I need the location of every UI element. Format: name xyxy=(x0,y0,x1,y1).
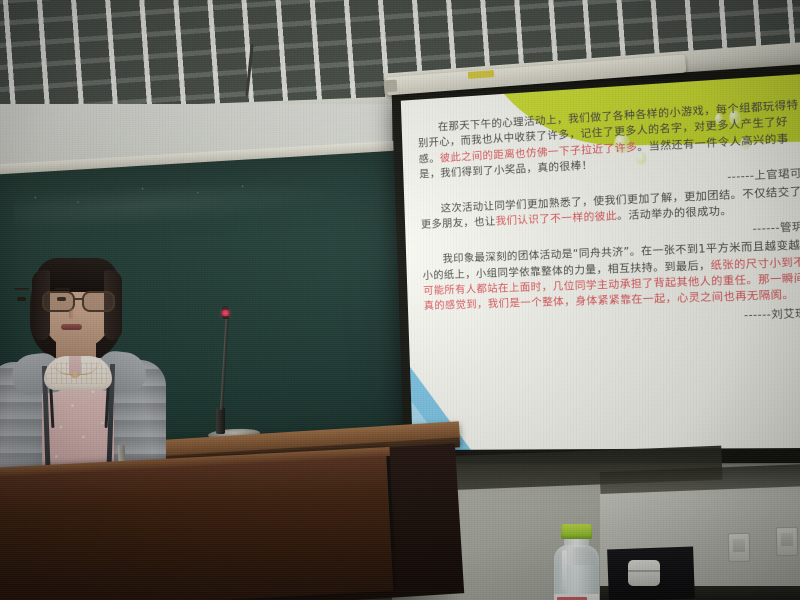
projection-screen-surface: 在那天下午的心理活动上，我们做了各种各样的小游戏，每个组都玩得特别开心，而我也从… xyxy=(401,73,800,450)
housing-end-cap xyxy=(384,80,398,93)
lectern-hinge xyxy=(118,445,126,461)
wall-switch[interactable] xyxy=(728,533,751,562)
presenter xyxy=(0,250,175,480)
projection-screen: 在那天下午的心理活动上，我们做了各种各样的小游戏，每个组都玩得特别开心，而我也从… xyxy=(392,63,800,464)
bottle-neck xyxy=(564,538,589,547)
bottle-cap xyxy=(561,524,592,539)
slide-run: 。活动举办的很成功。 xyxy=(617,206,732,223)
mouth xyxy=(61,324,82,330)
console-knob[interactable] xyxy=(628,560,660,586)
nose xyxy=(69,308,74,319)
eyeglass-bridge xyxy=(73,298,83,300)
slide-run-highlight: 我们认识了不一样的彼此 xyxy=(496,211,618,228)
console-knob-line xyxy=(628,570,660,572)
eye-left xyxy=(17,297,26,301)
slide-body-text: 在那天下午的心理活动上，我们做了各种各样的小游戏，每个组都玩得特别开心，而我也从… xyxy=(417,98,800,335)
classroom-photo-scene: 在那天下午的心理活动上，我们做了各种各样的小游戏，每个组都玩得特别开心，而我也从… xyxy=(0,0,800,600)
eyeglasses xyxy=(40,291,114,308)
slide-paragraph: 我印象最深刻的团体活动是“同舟共济”。在一张不到1平方米而且越变越小的纸上，小组… xyxy=(422,238,800,315)
bottle-highlight xyxy=(562,550,567,590)
microphone-body xyxy=(216,406,225,434)
eyebrow-right xyxy=(55,288,70,290)
water-bottle xyxy=(548,524,606,600)
wall-switch-rocker[interactable] xyxy=(781,533,793,546)
wooden-lectern xyxy=(0,451,393,600)
wall-switch[interactable] xyxy=(776,527,799,556)
wall-switch-rocker[interactable] xyxy=(733,539,745,552)
microphone-status-led xyxy=(222,310,229,316)
necklace-pendant xyxy=(73,372,77,377)
eyeglass-lens-right xyxy=(82,291,115,312)
eyebrow-left xyxy=(14,288,29,290)
